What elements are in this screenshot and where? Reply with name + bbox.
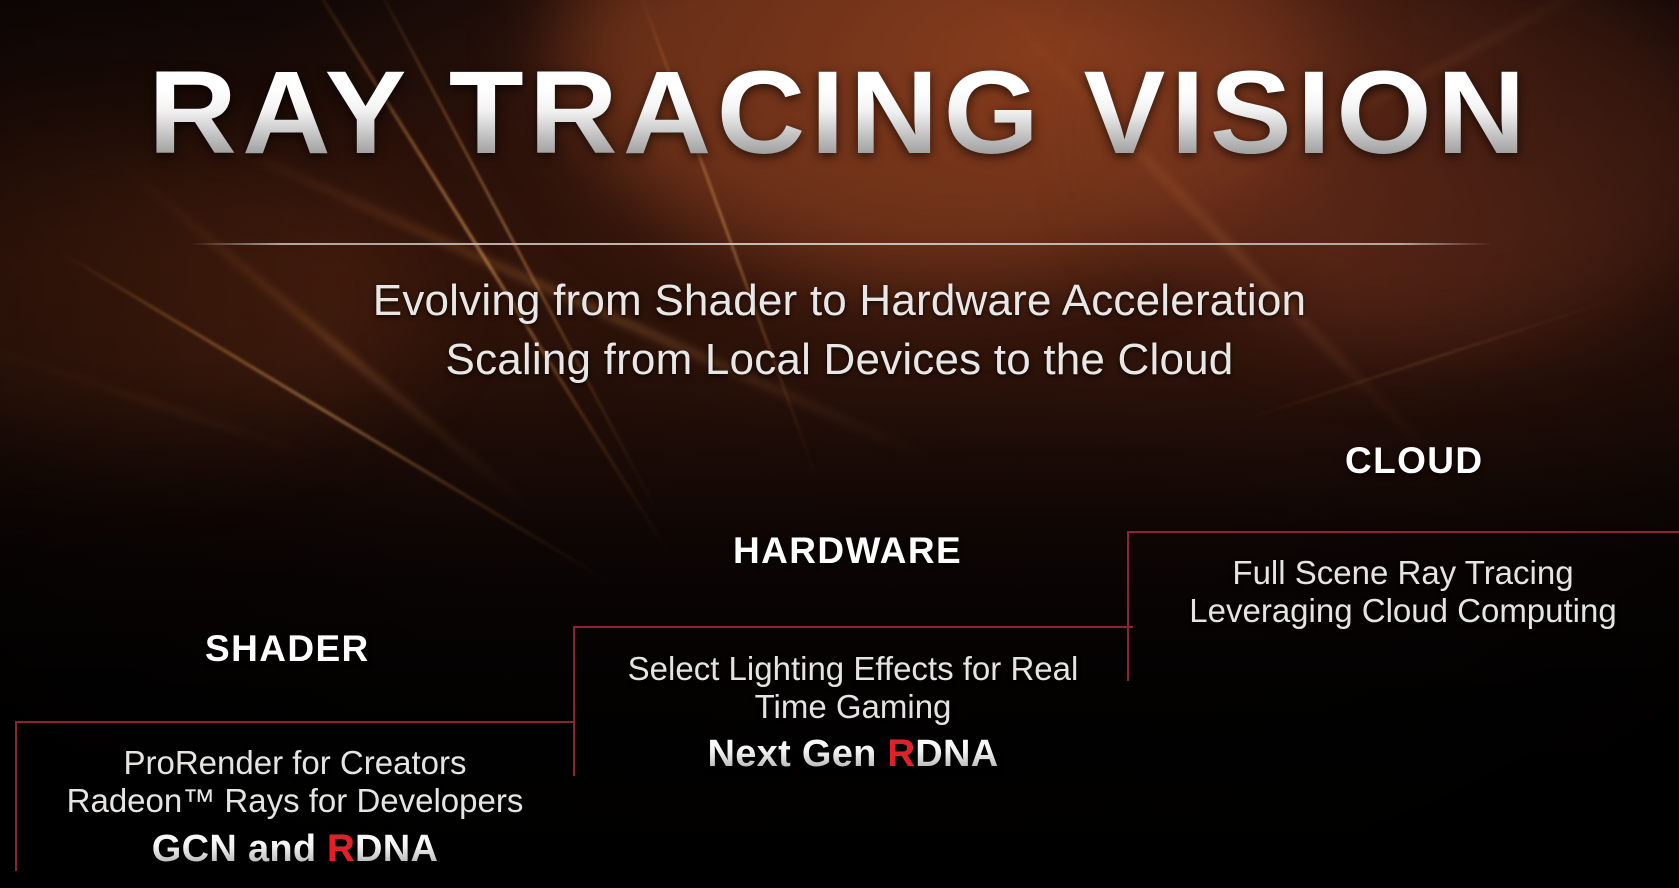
stage-body-shader: ProRender for Creators Radeon™ Rays for … xyxy=(15,744,575,821)
subtitle-line-2: Scaling from Local Devices to the Cloud xyxy=(0,331,1679,390)
slide-root: RAY TRACING VISION Evolving from Shader … xyxy=(0,0,1679,888)
stage-product-hardware: Next Gen RDNA xyxy=(573,733,1133,776)
stage-heading-hardware: HARDWARE xyxy=(733,530,962,572)
stage-product-prefix-hardware: Next Gen xyxy=(707,733,887,775)
stage-product-prefix-shader: GCN and xyxy=(152,828,328,870)
stage-product-accent-hardware: R xyxy=(888,733,916,775)
stage-heading-cloud: CLOUD xyxy=(1345,440,1484,482)
stage-product-suffix-shader: DNA xyxy=(355,828,438,870)
stage-product-shader: GCN and RDNA xyxy=(15,828,575,871)
stage-product-suffix-hardware: DNA xyxy=(915,733,998,775)
subtitle-line-1: Evolving from Shader to Hardware Acceler… xyxy=(0,272,1679,331)
stage-heading-shader: SHADER xyxy=(205,628,370,670)
cloud-bracket-top xyxy=(1127,531,1679,533)
shader-bracket-top xyxy=(15,721,575,723)
stage-body-cloud: Full Scene Ray Tracing Leveraging Cloud … xyxy=(1127,554,1679,631)
subtitle-block: Evolving from Shader to Hardware Acceler… xyxy=(0,272,1679,390)
hardware-bracket-top xyxy=(573,626,1133,628)
stage-body-hardware: Select Lighting Effects for Real Time Ga… xyxy=(573,650,1133,727)
stage-product-accent-shader: R xyxy=(327,828,355,870)
page-title: RAY TRACING VISION xyxy=(0,54,1679,172)
title-divider xyxy=(190,243,1492,245)
